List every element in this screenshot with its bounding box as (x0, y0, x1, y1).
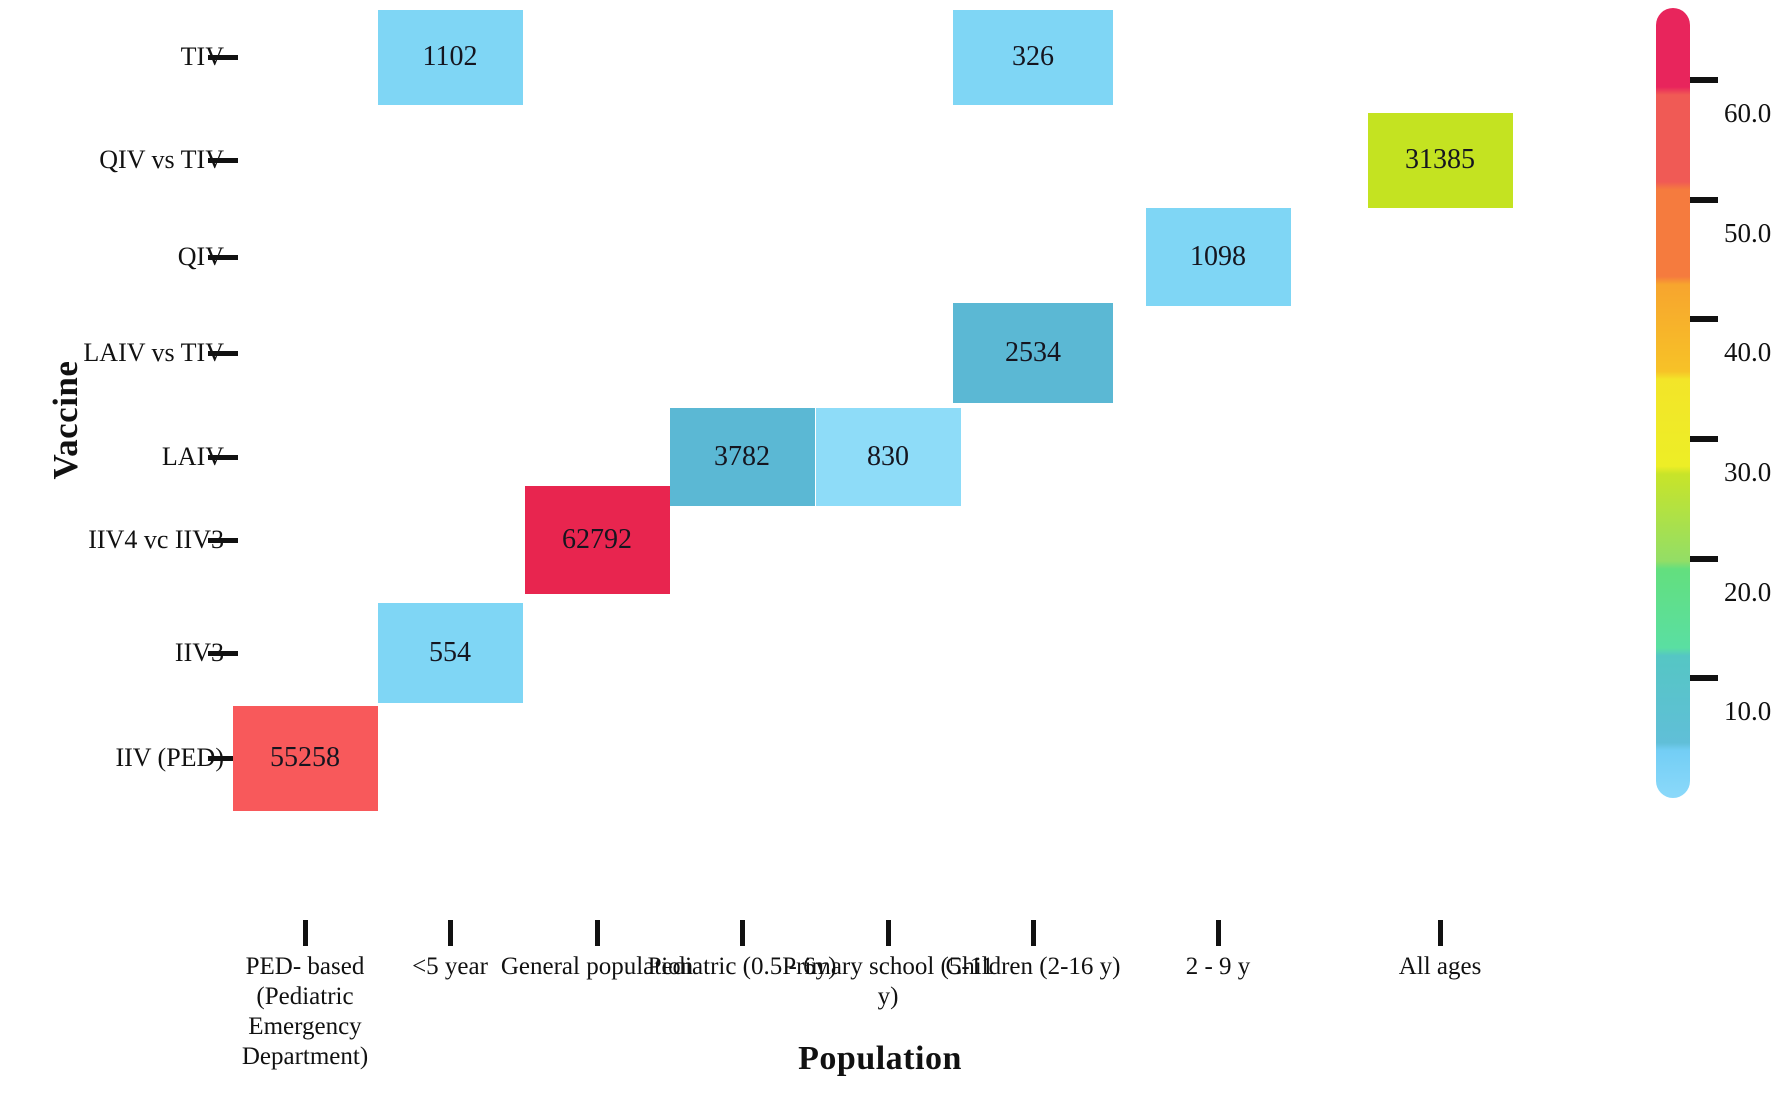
heatmap-cell[interactable]: 3782 (670, 408, 815, 506)
y-tick-label: IIV (PED) (0, 744, 224, 772)
y-tick-mark (208, 455, 238, 460)
heatmap-cell-value: 55258 (270, 744, 340, 772)
x-tick-mark (303, 920, 308, 946)
y-tick-mark (208, 651, 238, 656)
colorbar-gradient (1656, 8, 1690, 798)
heatmap-cell[interactable]: 62792 (525, 486, 670, 594)
y-tick-mark (208, 538, 238, 543)
x-tick-mark (1438, 920, 1443, 946)
heatmap-cell[interactable]: 1098 (1146, 208, 1291, 306)
heatmap-cell-value: 554 (429, 639, 471, 667)
heatmap-figure: Vaccine Population IIV (PED)IIV3IIV4 vc … (0, 0, 1772, 1097)
x-tick-mark (1216, 920, 1221, 946)
x-tick-mark (595, 920, 600, 946)
heatmap-cell[interactable]: 1102 (378, 10, 523, 105)
colorbar-tick-label: 30.000 (1724, 457, 1772, 488)
colorbar-tick-mark (1690, 316, 1718, 322)
y-tick-label: LAIV vs TIV (0, 339, 224, 367)
heatmap-cell[interactable]: 31385 (1368, 113, 1513, 208)
y-tick-label: TIV (0, 43, 224, 71)
y-tick-mark (208, 351, 238, 356)
colorbar-tick-label: 10.000 (1724, 696, 1772, 727)
colorbar-tick-mark (1690, 77, 1718, 83)
y-tick-label: LAIV (0, 443, 224, 471)
colorbar-tick-label: 60.000 (1724, 98, 1772, 129)
heatmap-cell-value: 62792 (562, 526, 632, 554)
heatmap-cell[interactable]: 554 (378, 603, 523, 703)
heatmap-cell-value: 1102 (423, 43, 478, 71)
heatmap-cell[interactable]: 326 (953, 10, 1113, 105)
x-tick-label: 2 - 9 y (1108, 952, 1328, 982)
colorbar-tick-mark (1690, 436, 1718, 442)
colorbar-tick-label: 50.000 (1724, 218, 1772, 249)
heatmap-cell-value: 1098 (1190, 243, 1246, 271)
y-tick-mark (208, 55, 238, 60)
y-tick-label: IIV4 vc IIV3 (0, 526, 224, 554)
y-tick-mark (208, 255, 238, 260)
heatmap-cell[interactable]: 830 (816, 408, 961, 506)
colorbar-legend: 10.00020.00030.00040.00050.00060.000 (1656, 8, 1690, 798)
colorbar-tick-mark (1690, 197, 1718, 203)
heatmap-cell[interactable]: 55258 (233, 706, 378, 811)
colorbar-tick-label: 20.000 (1724, 577, 1772, 608)
y-tick-label: IIV3 (0, 639, 224, 667)
heatmap-cell-value: 830 (867, 443, 909, 471)
x-tick-mark (448, 920, 453, 946)
x-tick-mark (886, 920, 891, 946)
heatmap-cell-value: 31385 (1405, 146, 1475, 174)
colorbar-tick-label: 40.000 (1724, 337, 1772, 368)
y-tick-mark (208, 158, 238, 163)
heatmap-cell-value: 3782 (714, 443, 770, 471)
heatmap-cell[interactable]: 2534 (953, 303, 1113, 403)
x-tick-mark (1031, 920, 1036, 946)
colorbar-tick-mark (1690, 556, 1718, 562)
y-tick-label: QIV vs TIV (0, 146, 224, 174)
x-axis-title: Population (600, 1040, 1160, 1078)
y-tick-label: QIV (0, 243, 224, 271)
x-tick-label: All ages (1330, 952, 1550, 982)
heatmap-cell-value: 2534 (1005, 339, 1061, 367)
colorbar-tick-mark (1690, 675, 1718, 681)
heatmap-cell-value: 326 (1012, 43, 1054, 71)
x-tick-mark (740, 920, 745, 946)
